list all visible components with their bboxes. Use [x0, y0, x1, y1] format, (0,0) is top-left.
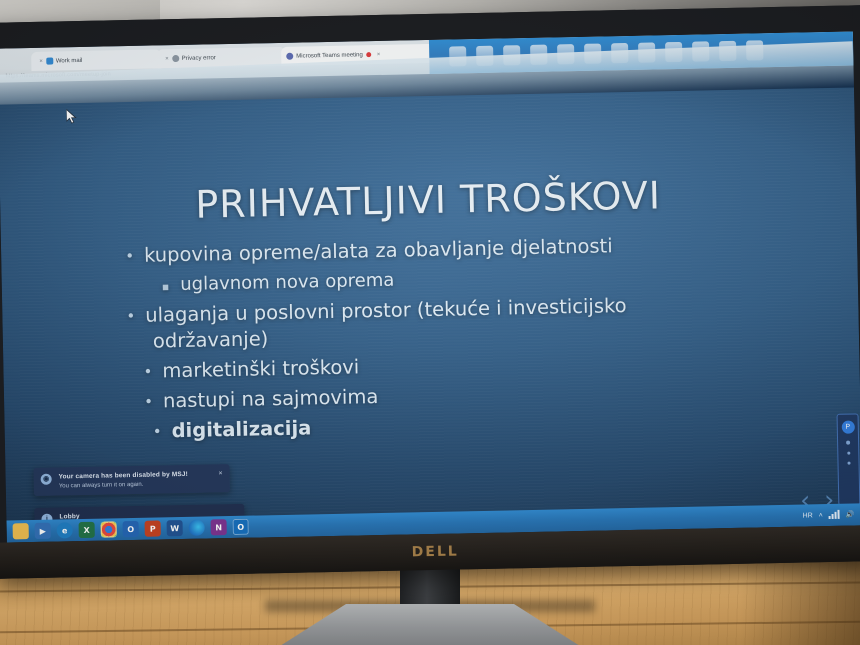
bullet-icon: • — [144, 395, 153, 410]
monitor-screen: × Work mail × Privacy error Microsoft Te… — [0, 31, 860, 542]
taskbar-item-outlook-classic[interactable]: O — [123, 521, 139, 537]
taskbar-item-label: e — [62, 526, 68, 535]
bullet-icon: • — [153, 424, 162, 439]
bullet-icon: • — [125, 249, 134, 264]
photo-scene: × Work mail × Privacy error Microsoft Te… — [0, 0, 860, 645]
desktop-icon[interactable] — [476, 46, 493, 66]
participant-dot-icon — [847, 452, 850, 455]
favicon-icon — [286, 53, 293, 60]
browser-tab-title: Microsoft Teams meeting — [296, 52, 363, 59]
system-tray: HR ˄ 🔊 — [803, 510, 860, 519]
slide-bullet-list: • kupovina opreme/alata za obavljanje dj… — [119, 230, 743, 448]
taskbar-item-outlook[interactable]: O — [233, 519, 249, 535]
taskbar-item-label: X — [84, 525, 90, 534]
bullet-icon: • — [126, 309, 135, 324]
taskbar-item-internet-explorer[interactable]: e — [57, 522, 73, 538]
taskbar-item-edge[interactable] — [189, 520, 205, 536]
participant-dot-icon — [847, 462, 850, 465]
desktop-icon[interactable] — [449, 46, 466, 66]
address-bar-text[interactable]: https://teams.microsoft.com/meetup-join — [6, 71, 111, 79]
desktop-icon[interactable] — [557, 44, 574, 64]
desktop-icon[interactable] — [503, 45, 520, 65]
desktop-icon[interactable] — [584, 44, 601, 64]
desktop-icon[interactable] — [746, 40, 763, 60]
taskbar-item-onenote[interactable]: N — [211, 519, 227, 535]
desktop-icon[interactable] — [665, 42, 682, 62]
desktop-icon[interactable] — [719, 41, 736, 61]
desk-shadow — [740, 560, 860, 645]
network-icon[interactable] — [829, 511, 840, 519]
taskbar-item-label: P — [150, 524, 156, 533]
avatar[interactable]: P — [841, 421, 854, 434]
bullet-icon: • — [143, 365, 152, 380]
dell-monitor: × Work mail × Privacy error Microsoft Te… — [0, 5, 860, 578]
list-item-label: digitalizacija — [171, 414, 311, 445]
browser-tab-title: Work mail — [56, 57, 83, 64]
close-icon[interactable]: × — [39, 58, 43, 64]
notification-toast-camera[interactable]: ◉ Your camera has been disabled by MSJ! … — [33, 464, 230, 496]
close-icon[interactable]: × — [165, 56, 169, 62]
list-item-label: uglavnom nova oprema — [180, 267, 395, 299]
recording-indicator-icon — [366, 52, 371, 57]
taskbar-item-label: O — [237, 522, 244, 531]
list-item-label: održavanje) — [153, 325, 269, 355]
volume-icon[interactable]: 🔊 — [846, 511, 855, 519]
desktop-icon[interactable] — [638, 42, 655, 62]
desktop-icon[interactable] — [530, 45, 547, 65]
notification-title: Your camera has been disabled by MSJ! — [59, 470, 212, 480]
browser-tab[interactable]: × Privacy error — [157, 47, 285, 69]
taskbar-item-excel[interactable]: X — [79, 522, 95, 538]
desktop-icon[interactable] — [611, 43, 628, 63]
taskbar-item-label: N — [215, 523, 222, 532]
browser-tab[interactable]: × Work mail — [31, 49, 161, 71]
dell-logo: DELL — [412, 543, 459, 560]
browser-tab-title: Privacy error — [182, 55, 216, 62]
taskbar-item-label: ▶ — [40, 526, 46, 535]
cursor-arrow-icon — [66, 109, 78, 125]
list-item-label: nastupi na sajmovima — [163, 383, 379, 415]
favicon-icon — [46, 58, 53, 65]
taskbar-item-chrome[interactable] — [101, 521, 117, 537]
browser-tab-active[interactable]: Microsoft Teams meeting × — [281, 44, 439, 66]
notification-subtitle: You can always turn it on again. — [59, 480, 212, 489]
list-item-label: marketinški troškovi — [162, 353, 359, 385]
close-icon[interactable]: × — [377, 51, 381, 57]
taskbar-item-label: O — [127, 524, 134, 533]
notification-body: Your camera has been disabled by MSJ! Yo… — [59, 470, 212, 489]
desktop-icon[interactable] — [692, 41, 709, 61]
keyboard-language-indicator[interactable]: HR — [803, 512, 813, 519]
chevron-up-icon[interactable]: ˄ — [819, 512, 823, 519]
taskbar-item-file-explorer[interactable] — [13, 523, 29, 539]
close-icon[interactable]: × — [218, 470, 222, 477]
camera-icon: ◉ — [41, 474, 52, 485]
taskbar-item-media-player[interactable]: ▶ — [35, 523, 51, 539]
taskbar-item-label: W — [170, 524, 179, 533]
taskbar-item-powerpoint[interactable]: P — [145, 520, 161, 536]
bullet-icon: ▪ — [162, 281, 170, 292]
taskbar-item-word[interactable]: W — [167, 520, 183, 536]
slide-title: PRIHVATLJIVI TROŠKOVI — [0, 169, 857, 230]
participant-dot-icon — [846, 441, 850, 445]
meeting-participants-panel[interactable]: P — [837, 413, 860, 505]
favicon-icon — [172, 55, 179, 62]
taskbar-icons: ▶ e X O P — [7, 519, 249, 540]
